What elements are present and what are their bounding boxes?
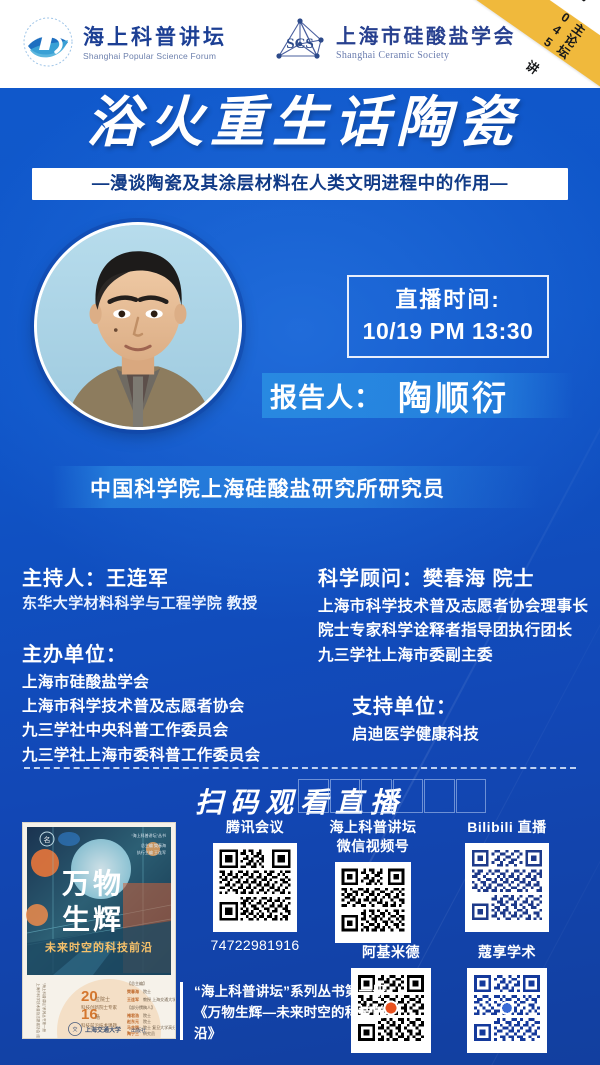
supporter-title: 支持单位： — [352, 694, 590, 721]
subtitle-bar: —漫谈陶瓷及其涂层材料在人类文明进程中的作用— — [32, 168, 568, 201]
list-item: 九三学社上海市委科普工作委员会 — [22, 744, 302, 768]
logo2-cn-name: 上海市硅酸盐学会 — [336, 27, 516, 47]
svg-text:赵东元: 赵东元 — [126, 1018, 139, 1024]
svg-text:院士: 院士 — [143, 1018, 151, 1024]
svg-text:未来时空的科技前沿: 未来时空的科技前沿 — [44, 940, 153, 954]
advisor-details: 上海市科学技术普及志愿者协会理事长 院士专家科学诠释者指导团执行团长 九三学社上… — [318, 595, 590, 668]
svg-text:执行主编 王连军: 执行主编 王连军 — [137, 849, 166, 855]
speaker-name-row: 报告人： 陶顺衍 — [270, 373, 590, 418]
page-title: 浴火重生话陶瓷 — [0, 92, 600, 154]
poster-root: 海上科普讲坛 Shanghai Popular Science Forum — [0, 0, 600, 1065]
list-item: 九三学社上海市委副主委 — [318, 644, 590, 668]
qr-channel-wechat[interactable]: 海上科普讲坛 微信视频号 — [312, 818, 434, 943]
credits-left-column: 主持人：王连军 东华大学材料科学与工程学院 教授 主办单位： 上海市硅酸盐学会 … — [22, 566, 302, 768]
bilibili-live-qr-icon[interactable] — [465, 843, 549, 932]
qr-label-line1: 海上科普讲坛 — [312, 818, 434, 837]
svg-text:名: 名 — [44, 835, 51, 844]
tencent-meeting-code: 74722981916 — [196, 937, 314, 953]
svg-text:【总主编】: 【总主编】 — [127, 980, 147, 986]
list-item: 上海市科学技术普及志愿者协会理事长 — [318, 595, 590, 619]
book-cover-illustration: 万物 生辉 未来时空的科技前沿 名 “海上科普讲坛”丛书 总主编 樊春海 执行主… — [23, 823, 175, 1038]
credits-right-column: 科学顾问：樊春海 院士 上海市科学技术普及志愿者协会理事长 院士专家科学诠释者指… — [318, 566, 590, 748]
svg-text:位院士: 位院士 — [95, 996, 110, 1003]
list-item: 院士专家科学诠释者指导团执行团长 — [318, 619, 590, 643]
list-item: 启迪医学健康科技 — [352, 723, 590, 747]
broadcast-time-label: 直播时间: — [355, 286, 541, 314]
tencent-meeting-qr-icon[interactable] — [213, 843, 297, 932]
svg-text:王连军: 王连军 — [127, 996, 139, 1002]
qr-channel-tencent-meeting[interactable]: 腾讯会议 — [196, 818, 314, 953]
qr-code-graphic — [217, 847, 293, 923]
svg-text:院士: 院士 — [143, 988, 151, 994]
host-title: 主持人：王连军 — [22, 566, 302, 593]
qr-label: 蔻享学术 — [452, 943, 562, 962]
speaker-name: 陶顺衍 — [398, 371, 509, 420]
speaker-portrait — [34, 222, 242, 430]
book-cover-image: 万物 生辉 未来时空的科技前沿 名 “海上科普讲坛”丛书 总主编 樊春海 执行主… — [22, 822, 176, 1039]
qr-channel-koushare[interactable]: 蔻享学术 — [452, 943, 562, 1053]
book-caption: “海上科普讲坛”系列丛书第一册 《万物生辉—未来时空的科技前沿》 — [180, 982, 390, 1045]
svg-text:场: 场 — [95, 1014, 100, 1021]
scan-heading: 扫码观看直播 — [191, 779, 409, 823]
organizers-title: 主办单位： — [22, 642, 302, 669]
list-item: 上海市科学技术普及志愿者协会 — [22, 695, 302, 719]
broadcast-time-value: 10/19 PM 13:30 — [355, 318, 541, 345]
svg-text:教授 上海交通大学材料学院: 教授 上海交通大学材料学院 — [143, 996, 175, 1002]
logo2-en-name: Shanghai Ceramic Society — [336, 51, 516, 61]
qr-code-graphic — [471, 972, 543, 1044]
svg-text:【部分撰稿人】: 【部分撰稿人】 — [127, 1004, 155, 1010]
qr-label: Bilibili 直播 — [440, 818, 574, 837]
list-item: 上海市硅酸盐学会 — [22, 671, 302, 695]
supporter-list: 启迪医学健康科技 — [352, 723, 590, 747]
svg-text:院士: 院士 — [143, 1012, 151, 1018]
title-block: 浴火重生话陶瓷 —漫谈陶瓷及其涂层材料在人类文明进程中的作用— — [0, 92, 600, 200]
svg-text:院士 复旦大学高分子科学: 院士 复旦大学高分子科学 — [143, 1024, 175, 1030]
qr-channel-bilibili[interactable]: Bilibili 直播 — [440, 818, 574, 932]
ceramic-lattice-icon: SCS — [273, 16, 327, 73]
scan-heading-wrap: 扫码观看直播 — [0, 779, 600, 823]
portrait-illustration — [37, 225, 239, 427]
logo1-en-name: Shanghai Popular Science Forum — [83, 52, 227, 61]
broadcast-time-box: 直播时间: 10/19 PM 13:30 — [347, 275, 549, 358]
qr-code-graphic — [339, 866, 407, 934]
logo-shanghai-popular-science-forum: 海上科普讲坛 Shanghai Popular Science Forum — [22, 16, 227, 73]
advisor-title: 科学顾问：樊春海 院士 — [318, 566, 590, 593]
page-subtitle: —漫谈陶瓷及其涂层材料在人类文明进程中的作用— — [32, 175, 568, 193]
svg-text:生辉: 生辉 — [62, 904, 124, 936]
speaker-label: 报告人： — [270, 376, 382, 415]
dashed-divider — [24, 767, 576, 769]
koushare-qr-icon[interactable] — [467, 968, 547, 1053]
qr-label-line2: 微信视频号 — [312, 837, 434, 856]
svg-text:交: 交 — [72, 1026, 77, 1033]
host-detail: 东华大学材料科学与工程学院 教授 — [22, 593, 302, 616]
qr-label: 阿基米德 — [336, 943, 446, 962]
logo-shanghai-ceramic-society: SCS 上海市硅酸盐学会 Shanghai Ceramic Society — [273, 16, 516, 73]
wechat-channel-qr-icon[interactable] — [335, 862, 411, 943]
forum-wave-icon — [22, 16, 74, 73]
list-item: 九三学社中央科普工作委员会 — [22, 719, 302, 743]
svg-text:上海市科学技术普及志愿者协会 组编: 上海市科学技术普及志愿者协会 组编 — [36, 983, 41, 1038]
svg-text:SCS: SCS — [286, 36, 314, 52]
logo1-cn-name: 海上科普讲坛 — [83, 27, 227, 48]
ribbon-line-2: 第 045 讲 — [521, 0, 591, 76]
svg-text:总主编 樊春海: 总主编 樊春海 — [141, 842, 166, 848]
svg-text:褚君浩: 褚君浩 — [126, 1012, 139, 1018]
qr-code-graphic — [469, 847, 545, 923]
svg-text:上海交通大学: 上海交通大学 — [85, 1026, 121, 1034]
credits-section: 主持人：王连军 东华大学材料科学与工程学院 教授 主办单位： 上海市硅酸盐学会 … — [0, 566, 600, 751]
svg-text:“海上科普讲坛”丛书: “海上科普讲坛”丛书 — [131, 832, 166, 838]
svg-text:“海上科普讲坛”系列丛书第一册: “海上科普讲坛”系列丛书第一册 — [42, 983, 47, 1033]
svg-text:万物: 万物 — [62, 868, 124, 900]
organizers-list: 上海市硅酸盐学会 上海市科学技术普及志愿者协会 九三学社中央科普工作委员会 九三… — [22, 671, 302, 769]
speaker-affiliation: 中国科学院上海硅酸盐研究所研究员 — [90, 473, 550, 503]
svg-text:樊春海: 樊春海 — [126, 988, 139, 994]
svg-text:出版社: 出版社 — [131, 1027, 146, 1034]
header-bar: 海上科普讲坛 Shanghai Popular Science Forum — [0, 0, 600, 88]
qr-label: 腾讯会议 — [196, 818, 314, 837]
